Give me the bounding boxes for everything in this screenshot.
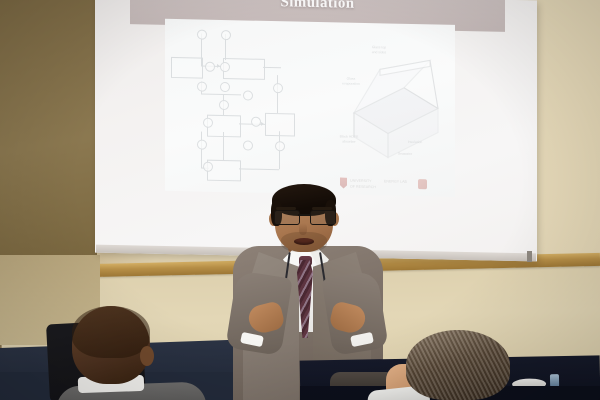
flow-node bbox=[221, 30, 231, 40]
diagram-label: Black HDPEabsorber bbox=[332, 134, 366, 145]
ear bbox=[140, 346, 154, 366]
flow-node bbox=[197, 139, 207, 149]
presentation-photo: Simulation bbox=[0, 0, 600, 400]
diagram-label: Glassevaporation bbox=[336, 76, 366, 87]
flow-link bbox=[223, 132, 224, 160]
flow-node bbox=[275, 141, 285, 151]
flow-node bbox=[219, 100, 229, 110]
projected-slide: Simulation bbox=[130, 0, 505, 200]
left-wall-panel bbox=[0, 0, 97, 262]
flow-node bbox=[243, 90, 253, 100]
flow-node bbox=[203, 162, 213, 172]
process-flowchart bbox=[165, 19, 325, 192]
flow-node bbox=[197, 29, 207, 39]
glasses-bridge bbox=[298, 214, 310, 216]
nose bbox=[299, 223, 307, 235]
flow-link bbox=[201, 94, 241, 96]
flow-box bbox=[171, 57, 203, 79]
flow-link bbox=[277, 75, 278, 113]
flow-box bbox=[265, 113, 295, 137]
sponsor-logo-icon bbox=[418, 179, 427, 189]
solar-still-isometric-diagram: Glass topand sides Glassevaporation Blac… bbox=[340, 40, 455, 167]
flow-node bbox=[220, 82, 230, 92]
flow-node bbox=[203, 118, 213, 128]
flow-node bbox=[243, 140, 253, 150]
screen-tensioner bbox=[527, 251, 532, 262]
audience-member-front-left bbox=[62, 306, 182, 400]
flow-node bbox=[251, 117, 261, 127]
flow-arrow bbox=[261, 122, 264, 126]
diagram-label: Insulation bbox=[400, 140, 430, 146]
lens-left bbox=[274, 210, 300, 225]
isometric-box-svg bbox=[340, 40, 455, 167]
lens-right bbox=[310, 210, 336, 225]
slide-body: Glass topand sides Glassevaporation Blac… bbox=[165, 19, 455, 197]
flow-box bbox=[207, 115, 241, 138]
audience-member-front-right bbox=[398, 330, 528, 400]
mouth bbox=[294, 238, 314, 245]
sponsor-logo-text: ENERGY LAB bbox=[384, 179, 407, 183]
eyeglasses-icon bbox=[274, 210, 334, 223]
flow-arrow bbox=[217, 64, 220, 68]
flow-node bbox=[273, 83, 283, 93]
flow-node bbox=[220, 62, 230, 72]
flow-node bbox=[205, 62, 215, 72]
flow-link bbox=[263, 67, 281, 68]
diagram-label: Seawater bbox=[390, 152, 420, 158]
diagram-label: Glass topand sides bbox=[362, 45, 396, 56]
hair-texture bbox=[406, 330, 510, 400]
hair bbox=[72, 306, 150, 358]
flow-link bbox=[239, 168, 279, 170]
flow-node bbox=[197, 81, 207, 91]
